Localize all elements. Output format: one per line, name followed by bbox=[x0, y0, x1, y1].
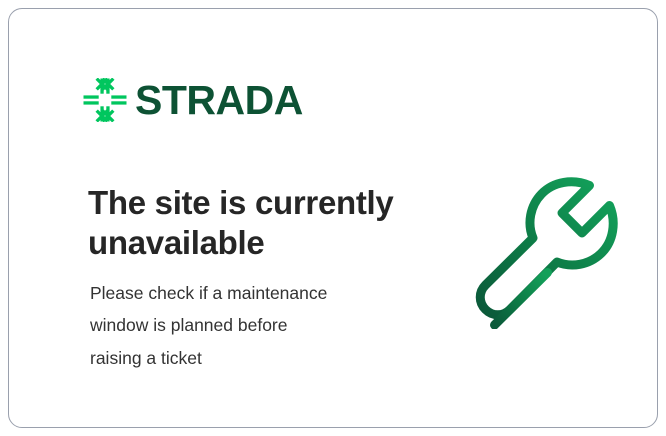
error-card: STRADA The site is currently unavailable… bbox=[8, 8, 658, 428]
brand-logo-lockup: STRADA bbox=[83, 75, 303, 125]
strada-starburst-logo-icon bbox=[83, 78, 127, 122]
page-description: Please check if a maintenance window is … bbox=[90, 277, 400, 374]
description-line: Please check if a maintenance bbox=[90, 277, 400, 309]
description-line: window is planned before bbox=[90, 309, 400, 341]
error-page-screen: STRADA The site is currently unavailable… bbox=[0, 0, 666, 436]
brand-wordmark: STRADA bbox=[135, 80, 303, 121]
page-title: The site is currently unavailable bbox=[88, 183, 418, 264]
description-line: raising a ticket bbox=[90, 342, 400, 374]
wrench-icon bbox=[461, 159, 631, 329]
